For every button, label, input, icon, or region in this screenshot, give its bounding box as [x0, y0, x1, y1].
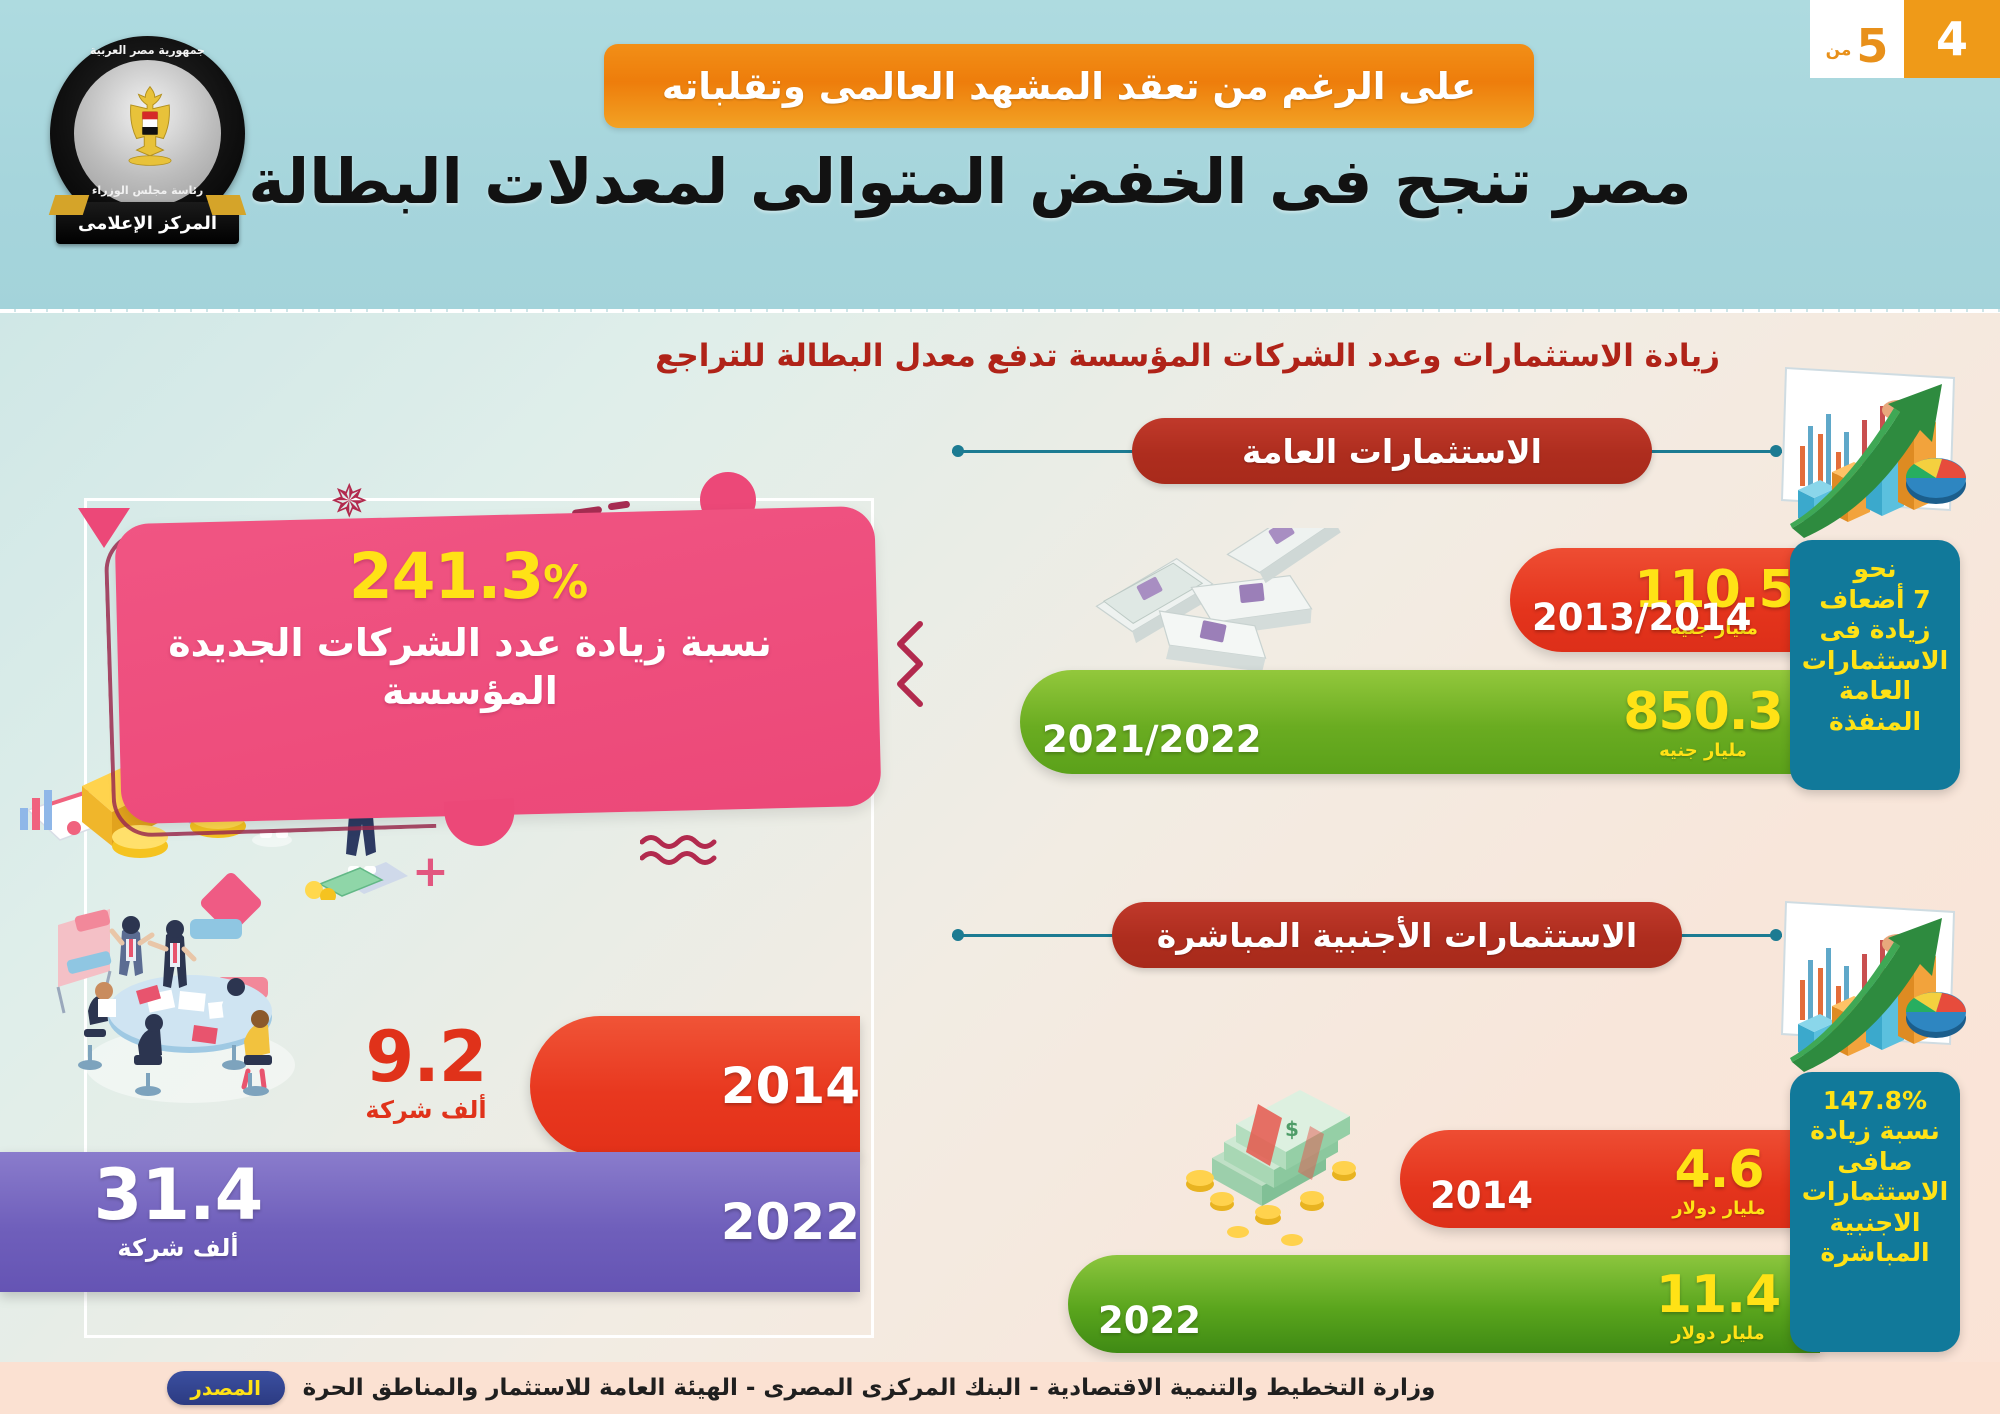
fdi-callout-percent: 147.8% — [1798, 1086, 1952, 1116]
page-title: مصر تنجح فى الخفض المتوالى لمعدلات البطا… — [60, 148, 1880, 216]
growth-chart-icon-fdi — [1778, 884, 1974, 1074]
public-investment-bar-2013-2014: 110.5 مليار جنيه 2013/2014 — [1510, 548, 1820, 652]
fdi-callout-line-3: صافى — [1798, 1147, 1952, 1178]
public-investment-callout-line-2: 7 أضعاف — [1798, 585, 1952, 616]
connector-line-left-fdi — [952, 934, 1120, 937]
public-investment-callout-line-3: زيادة فى — [1798, 615, 1952, 646]
dollar-bundles-illustration: $ — [1172, 1062, 1392, 1262]
header-kicker: على الرغم من تعقد المشهد العالمى وتقلبات… — [604, 44, 1534, 128]
fdi-title: الاستثمارات الأجنبية المباشرة — [1112, 902, 1682, 968]
fdi-value-2022: 11.4 مليار دولار — [1638, 1269, 1798, 1343]
fdi-value-2014-unit: مليار دولار — [1644, 1200, 1794, 1218]
companies-percent-caption: نسبة زيادة عدد الشركات الجديدة المؤسسة — [140, 620, 800, 716]
fdi-bar-2014-year: 2014 — [1430, 1174, 1533, 1217]
companies-value-2022-number: 31.4 — [78, 1160, 278, 1230]
section-subtitle: زيادة الاستثمارات وعدد الشركات المؤسسة ت… — [60, 338, 1720, 374]
companies-value-2022-unit: ألف شركة — [78, 1236, 278, 1260]
fdi-title-text: الاستثمارات الأجنبية المباشرة — [1157, 916, 1637, 955]
companies-bar-2014-year: 2014 — [721, 1057, 860, 1115]
fdi-callout-line-5: الاجنبية — [1798, 1208, 1952, 1239]
public-investment-bar-2021-2022-year: 2021/2022 — [1042, 718, 1261, 761]
public-investment-value-2021-2022-unit: مليار جنيه — [1608, 742, 1798, 760]
fdi-value-2022-unit: مليار دولار — [1638, 1325, 1798, 1343]
companies-value-2014-unit: ألف شركة — [326, 1098, 526, 1122]
public-investment-callout-line-1: نحو — [1798, 554, 1952, 585]
fdi-callout-line-6: المباشرة — [1798, 1238, 1952, 1269]
egyptian-pound-banknotes-illustration — [1088, 528, 1368, 688]
page-current-box: 4 — [1904, 0, 2000, 78]
zigzag-decoration-icon — [890, 620, 930, 710]
fdi-bar-2022-year: 2022 — [1098, 1299, 1201, 1342]
public-investment-bar-2013-2014-year: 2013/2014 — [1532, 596, 1751, 639]
fdi-callout-line-2: نسبة زيادة — [1798, 1116, 1952, 1147]
fdi-callout-line-4: الاستثمارات — [1798, 1177, 1952, 1208]
fdi-value-2014-number: 4.6 — [1644, 1144, 1794, 1196]
public-investment-title-text: الاستثمارات العامة — [1242, 432, 1542, 471]
public-investment-value-2021-2022: 850.3 مليار جنيه — [1608, 686, 1798, 760]
fdi-bar-2014: 4.6 مليار دولار 2014 — [1400, 1130, 1820, 1228]
public-investment-value-2021-2022-number: 850.3 — [1608, 686, 1798, 738]
public-investment-callout-line-4: الاستثمارات — [1798, 646, 1952, 677]
page-of-label: من — [1826, 40, 1852, 69]
connector-line-left-public — [952, 450, 1142, 453]
companies-value-2014-number: 9.2 — [326, 1022, 526, 1092]
companies-value-2014: 9.2 ألف شركة — [326, 1022, 526, 1122]
svg-text:$: $ — [1285, 1117, 1299, 1141]
source-badge: المصدر — [167, 1371, 285, 1405]
fdi-callout: 147.8% نسبة زيادة صافى الاستثمارات الاجن… — [1790, 1072, 1960, 1352]
wave-decoration-icon — [640, 832, 730, 868]
page-total: 5 — [1856, 25, 1888, 69]
fdi-value-2022-number: 11.4 — [1638, 1269, 1798, 1321]
public-investment-callout-line-6: المنفذة — [1798, 707, 1952, 738]
page-current: 4 — [1936, 12, 1968, 66]
growth-chart-icon — [1778, 350, 1974, 540]
public-investment-callout-line-5: العامة — [1798, 676, 1952, 707]
companies-bar-2014: 2014 — [530, 1016, 860, 1156]
public-investment-bar-2021-2022: 850.3 مليار جنيه 2021/2022 — [1020, 670, 1820, 774]
companies-bar-2022-year: 2022 — [721, 1193, 860, 1251]
public-investment-title: الاستثمارات العامة — [1132, 418, 1652, 484]
companies-value-2022: 31.4 ألف شركة — [78, 1160, 278, 1260]
asterisk-decoration-icon: ✵ — [330, 478, 369, 524]
source-badge-text: المصدر — [190, 1376, 261, 1400]
footer-bar: المصدر وزارة التخطيط والتنمية الاقتصادية… — [0, 1362, 2000, 1414]
fdi-bar-2022: 11.4 مليار دولار 2022 — [1068, 1255, 1820, 1353]
connector-line-right-fdi — [1680, 934, 1782, 937]
footer-content: المصدر وزارة التخطيط والتنمية الاقتصادية… — [167, 1371, 1436, 1405]
percent-symbol: % — [543, 556, 587, 609]
header-divider — [0, 309, 2000, 312]
fdi-value-2014: 4.6 مليار دولار — [1644, 1144, 1794, 1218]
companies-percent-value: 241.3 — [349, 540, 543, 613]
infographic-canvas: 4 5 من جمهورية مصر العربية رئاسة مجلس ال… — [0, 0, 2000, 1414]
page-total-box: 5 من — [1810, 0, 1904, 78]
logo-top-text: جمهورية مصر العربية — [40, 44, 255, 58]
connector-line-right-public — [1650, 450, 1782, 453]
public-investment-callout: نحو 7 أضعاف زيادة فى الاستثمارات العامة … — [1790, 540, 1960, 790]
page-indicator: 4 5 من — [1810, 0, 2000, 78]
header-kicker-text: على الرغم من تعقد المشهد العالمى وتقلبات… — [662, 65, 1476, 108]
business-meeting-illustration — [40, 895, 330, 1110]
companies-percent: 241.3% — [118, 540, 818, 613]
source-text: وزارة التخطيط والتنمية الاقتصادية - البن… — [303, 1375, 1436, 1401]
